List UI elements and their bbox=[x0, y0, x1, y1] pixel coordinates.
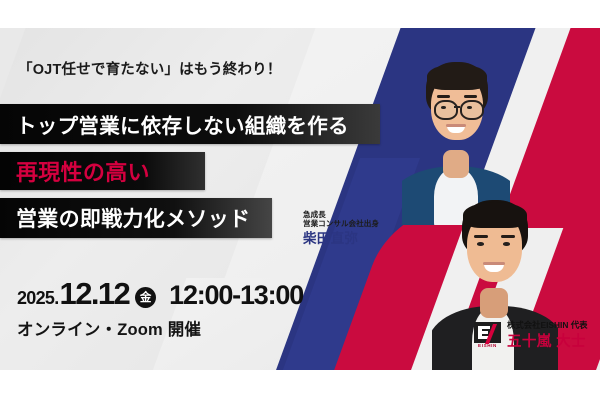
event-month-day: 12.12 bbox=[60, 276, 130, 312]
eishin-logo-wordmark: EISHIN bbox=[474, 343, 501, 348]
headline-1-text: トップ営業に依存しない組織を作る bbox=[0, 109, 349, 139]
seminar-banner: 「OJT任せで育たない」はもう終わり！ トップ営業に依存しない組織を作る 再現性… bbox=[0, 28, 600, 370]
speaker-2-role: 株式会社EISHIN 代表 bbox=[507, 320, 588, 331]
tagline: 「OJT任せで育たない」はもう終わり！ bbox=[18, 58, 282, 79]
speaker-1-caption: 急成長 営業コンサル会社出身 柴田直弥 bbox=[303, 210, 379, 248]
speaker-1-name: 柴田直弥 bbox=[303, 231, 379, 248]
speaker-1-role-line-1: 急成長 bbox=[303, 210, 379, 219]
event-date-line: 2025. 12.12 金 12:00-13:00 bbox=[17, 276, 303, 312]
headline-2-text: 再現性の高い bbox=[0, 155, 150, 187]
speaker-2-caption: EISHIN 株式会社EISHIN 代表 五十嵐 大士 bbox=[474, 320, 588, 352]
speaker-1-role-line-2: 営業コンサル会社出身 bbox=[303, 219, 379, 228]
headline-band-1: トップ営業に依存しない組織を作る bbox=[0, 104, 380, 144]
event-year: 2025. bbox=[17, 288, 59, 309]
headline-band-3: 営業の即戦力化メソッド bbox=[0, 198, 272, 238]
event-venue: オンライン・Zoom 開催 bbox=[17, 316, 201, 340]
event-day-of-week-badge: 金 bbox=[135, 287, 156, 308]
eishin-logo-icon: EISHIN bbox=[474, 322, 501, 349]
headline-band-2: 再現性の高い bbox=[0, 152, 205, 190]
headline-3-text: 営業の即戦力化メソッド bbox=[0, 203, 250, 233]
event-time: 12:00-13:00 bbox=[169, 280, 303, 311]
speaker-2-name: 五十嵐 大士 bbox=[507, 333, 588, 352]
